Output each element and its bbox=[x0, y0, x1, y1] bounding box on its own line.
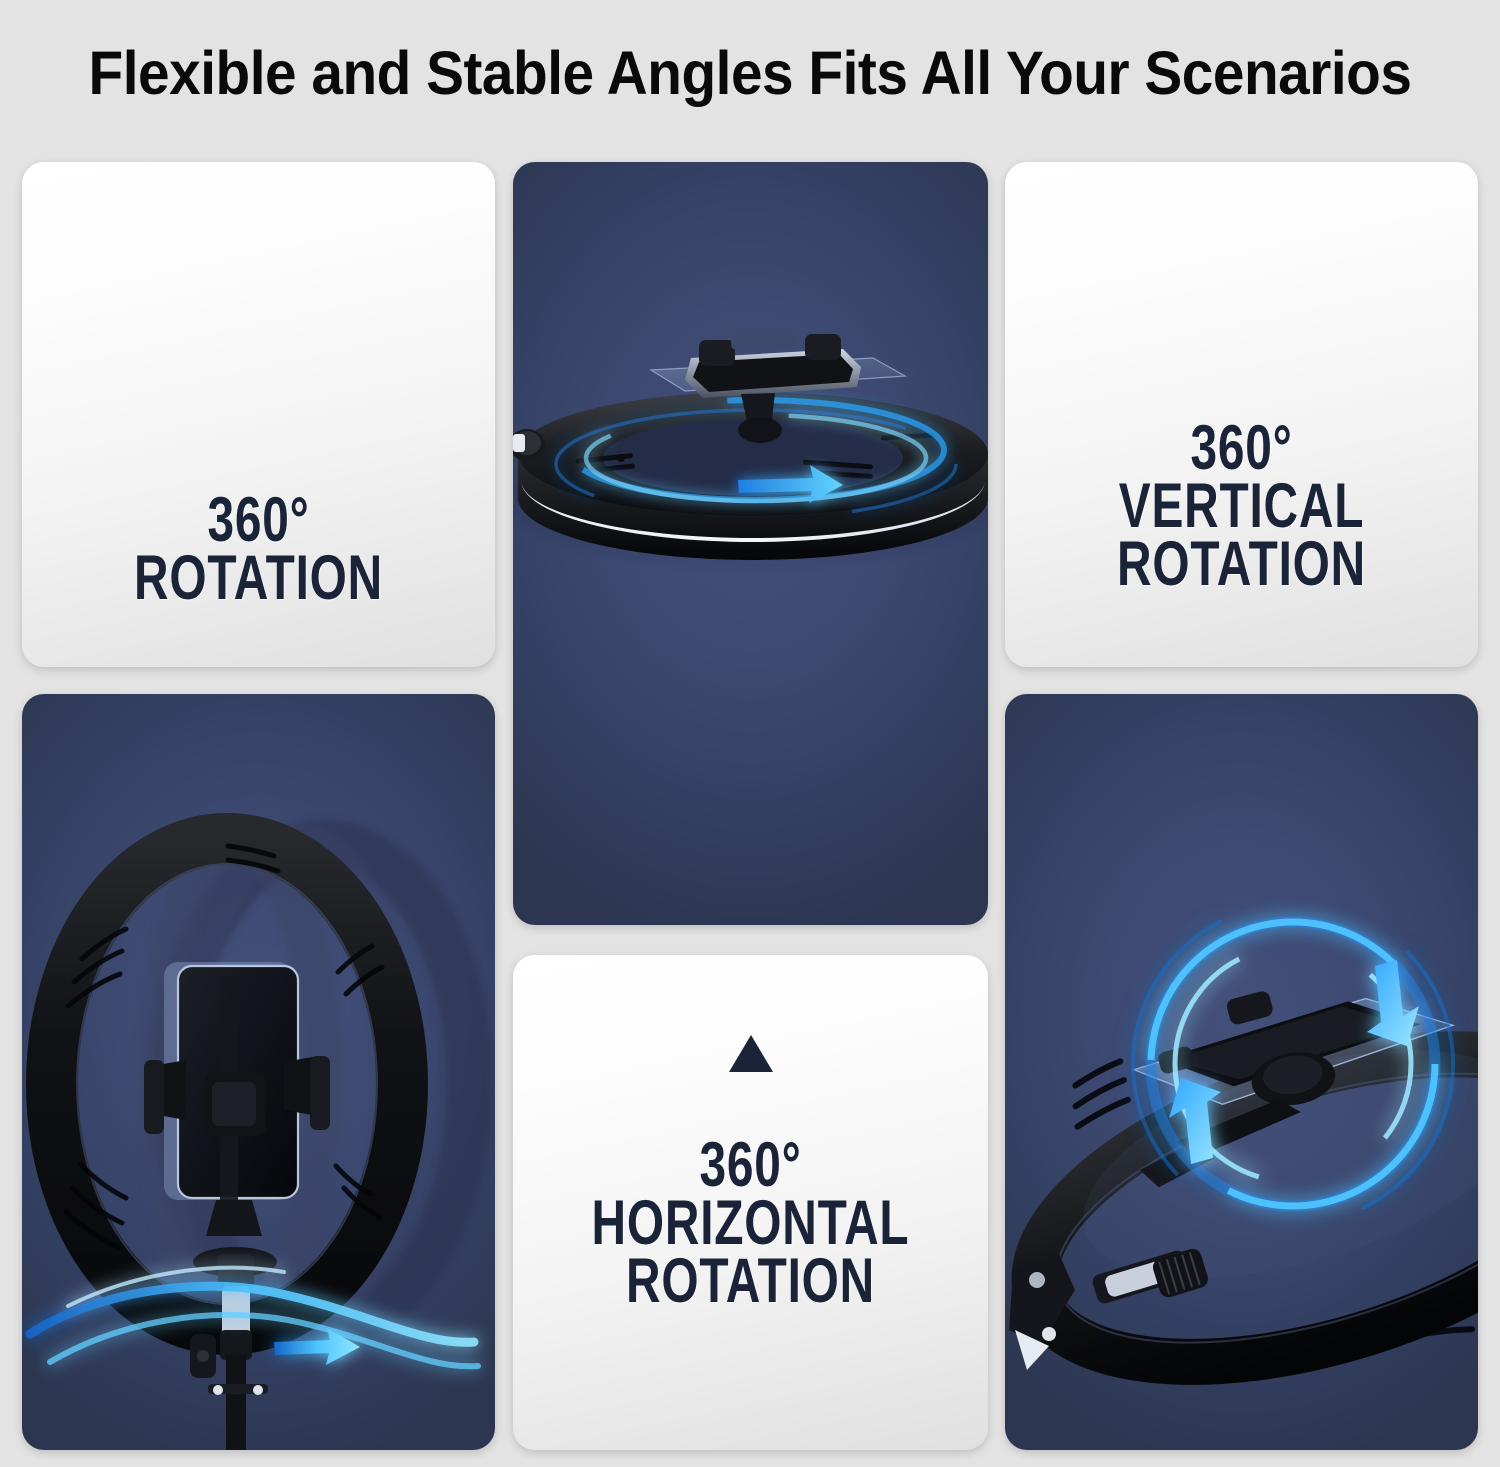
ring-light-angled-view-image bbox=[1005, 694, 1478, 1450]
panel-360-rotation: 360° ROTATION bbox=[22, 162, 495, 667]
label-line-1: 360° bbox=[79, 492, 438, 550]
panel-360-rotation-text: 360° ROTATION bbox=[22, 492, 495, 608]
page-title: Flexible and Stable Angles Fits All Your… bbox=[53, 38, 1448, 108]
panel-360-horizontal-rotation-text: 360° HORIZONTAL ROTATION bbox=[513, 1137, 988, 1311]
label-line-1: 360° bbox=[570, 1137, 931, 1195]
panel-360-vertical-rotation: 360° VERTICAL ROTATION bbox=[1005, 162, 1478, 667]
label-line-3: ROTATION bbox=[1062, 536, 1421, 594]
panel-360-horizontal-rotation: 360° HORIZONTAL ROTATION bbox=[513, 955, 988, 1450]
label-line-2: ROTATION bbox=[79, 550, 438, 608]
label-line-1: 360° bbox=[1062, 420, 1421, 478]
label-line-3: ROTATION bbox=[570, 1253, 931, 1311]
panel-360-vertical-rotation-text: 360° VERTICAL ROTATION bbox=[1005, 420, 1478, 594]
panel-ring-light-front-view bbox=[22, 694, 495, 1450]
label-line-2: VERTICAL bbox=[1062, 478, 1421, 536]
panel-ring-light-top-view bbox=[513, 162, 988, 925]
ring-light-front-view-image bbox=[22, 694, 495, 1450]
panel-ring-light-angled-view bbox=[1005, 694, 1478, 1450]
triangle-up-icon bbox=[729, 1035, 773, 1072]
ring-light-top-view-image bbox=[513, 162, 988, 925]
label-line-2: HORIZONTAL bbox=[570, 1195, 931, 1253]
